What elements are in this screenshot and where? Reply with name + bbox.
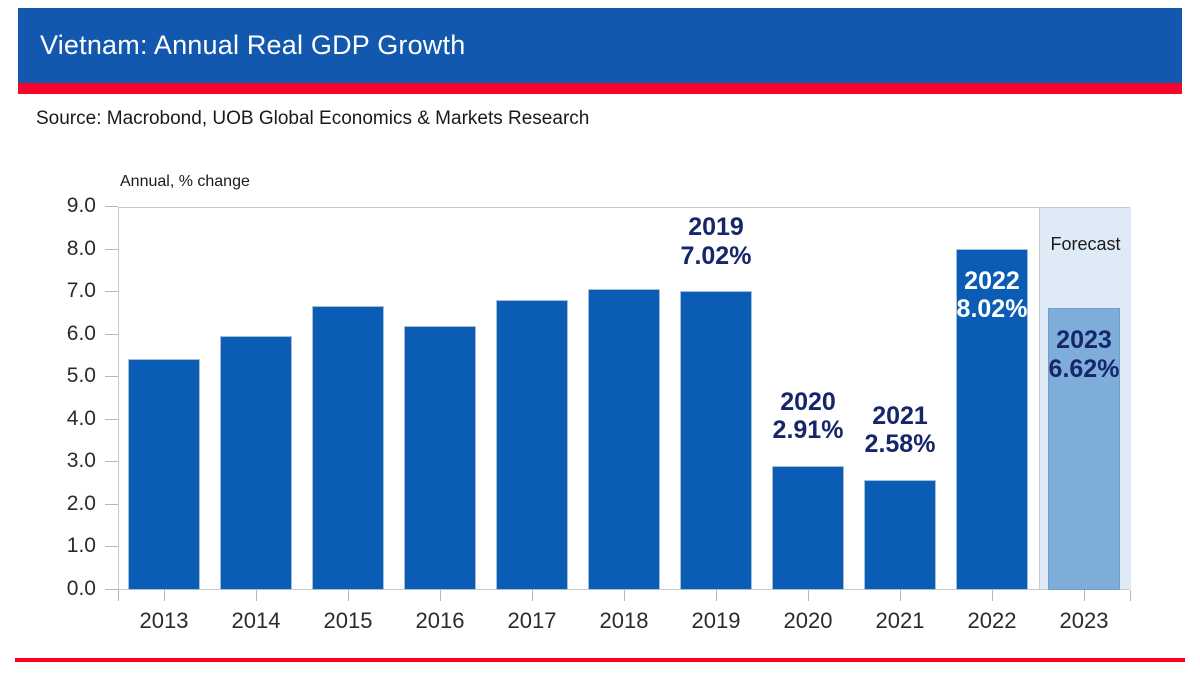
x-axis-tick-label: 2015 (302, 608, 394, 634)
y-axis-tick-mark (105, 249, 118, 250)
bar-2017[interactable] (496, 300, 568, 590)
bar-2016[interactable] (404, 326, 476, 590)
y-axis-tick-label: 3.0 (67, 449, 96, 473)
x-axis-tick-mark (900, 590, 901, 601)
header-banner: Vietnam: Annual Real GDP Growth (18, 8, 1182, 83)
bar-2021[interactable] (864, 480, 936, 590)
bar-slot-2014 (210, 207, 302, 590)
x-axis-tick-mark (992, 590, 993, 601)
bar-value-label-2022: 2022 8.02% (952, 267, 1033, 324)
chart-header: Vietnam: Annual Real GDP Growth (18, 8, 1182, 94)
x-axis: 2013201420152016201720182019202020212022… (118, 590, 1130, 650)
source-text: Source: Macrobond, UOB Global Economics … (36, 108, 589, 130)
x-axis-tick-mark (716, 590, 717, 601)
y-axis: 0.01.02.03.04.05.06.07.08.09.0 (0, 207, 118, 590)
y-axis-tick-mark (105, 461, 118, 462)
x-axis-tick-mark (1084, 590, 1085, 601)
y-axis-tick-mark (105, 291, 118, 292)
x-axis-tick-mark (440, 590, 441, 601)
y-axis-tick-label: 8.0 (67, 237, 96, 261)
y-axis-tick-mark (105, 376, 118, 377)
bar-2015[interactable] (312, 306, 384, 590)
y-axis-tick-mark (105, 206, 118, 207)
y-axis-tick-label: 7.0 (67, 279, 96, 303)
bar-2018[interactable] (588, 289, 660, 590)
y-axis-tick-label: 5.0 (67, 364, 96, 388)
x-axis-tick-label: 2017 (486, 608, 578, 634)
y-axis-tick-label: 1.0 (67, 534, 96, 558)
x-axis-tick-label: 2022 (946, 608, 1038, 634)
y-axis-tick-mark (105, 334, 118, 335)
x-axis-tick-label: 2013 (118, 608, 210, 634)
bar-series: 2019 7.02%2020 2.91%2021 2.58%2022 8.02%… (118, 207, 1130, 590)
bar-slot-2017 (486, 207, 578, 590)
y-axis-tick-label: 9.0 (67, 194, 96, 218)
y-axis-tick-label: 2.0 (67, 492, 96, 516)
bar-value-label-2019: 2019 7.02% (657, 213, 775, 270)
bar-slot-2023: 2023 6.62% (1038, 207, 1130, 590)
footer-accent-rule (15, 658, 1185, 662)
y-axis-units-label: Annual, % change (120, 173, 250, 191)
x-axis-tick-label: 2021 (854, 608, 946, 634)
y-axis-tick-mark (105, 546, 118, 547)
bar-2013[interactable] (128, 359, 200, 590)
x-axis-tick-mark (256, 590, 257, 601)
bar-2020[interactable] (772, 466, 844, 590)
x-axis-tick-mark (164, 590, 165, 601)
x-axis-tick-label: 2019 (670, 608, 762, 634)
x-axis-tick-mark (348, 590, 349, 601)
chart-area: Annual, % change Forecast 0.01.02.03.04.… (0, 150, 1200, 650)
x-axis-tick-mark (532, 590, 533, 601)
bar-slot-2015 (302, 207, 394, 590)
bar-slot-2016 (394, 207, 486, 590)
page-title: Vietnam: Annual Real GDP Growth (40, 30, 465, 61)
x-axis-edge-tick (1130, 590, 1131, 601)
y-axis-tick-label: 6.0 (67, 322, 96, 346)
x-axis-tick-label: 2023 (1038, 608, 1130, 634)
header-accent-rule (18, 83, 1182, 94)
bar-2019[interactable] (680, 291, 752, 590)
x-axis-tick-label: 2018 (578, 608, 670, 634)
x-axis-tick-label: 2020 (762, 608, 854, 634)
x-axis-tick-label: 2014 (210, 608, 302, 634)
bar-slot-2020: 2020 2.91% (762, 207, 854, 590)
x-axis-edge-tick (118, 590, 119, 601)
y-axis-tick-mark (105, 504, 118, 505)
y-axis-tick-mark (105, 589, 118, 590)
bar-2014[interactable] (220, 336, 292, 590)
y-axis-tick-mark (105, 419, 118, 420)
bar-value-label-2023: 2023 6.62% (1044, 326, 1125, 383)
x-axis-tick-mark (624, 590, 625, 601)
x-axis-tick-label: 2016 (394, 608, 486, 634)
y-axis-tick-label: 4.0 (67, 407, 96, 431)
bar-slot-2021: 2021 2.58% (854, 207, 946, 590)
y-axis-tick-label: 0.0 (67, 577, 96, 601)
bar-slot-2013 (118, 207, 210, 590)
bar-value-label-2021: 2021 2.58% (841, 402, 959, 459)
x-axis-tick-mark (808, 590, 809, 601)
bar-slot-2022: 2022 8.02% (946, 207, 1038, 590)
